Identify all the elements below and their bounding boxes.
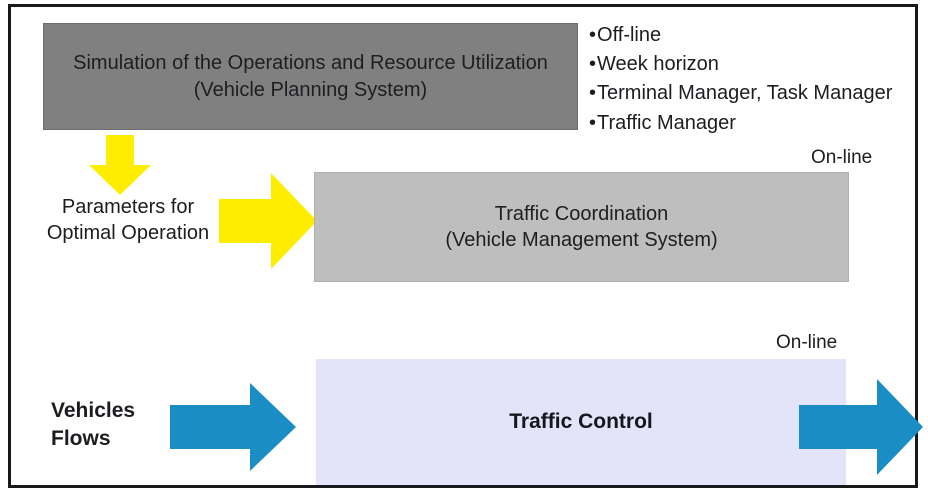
traffic-control-box: Traffic Control	[316, 359, 846, 485]
parameters-label-line1: Parameters for	[62, 196, 194, 218]
online-label-bottom: On-line	[776, 332, 837, 354]
bullet-dot-icon: •	[589, 21, 596, 50]
yellow-right-arrow-icon	[219, 173, 317, 269]
list-item: •Traffic Manager	[589, 109, 927, 138]
list-item: •Terminal Manager, Task Manager	[589, 79, 927, 108]
traffic-control-label: Traffic Control	[509, 408, 653, 436]
bullet-text: Terminal Manager, Task Manager	[597, 82, 892, 104]
online-label-middle: On-line	[811, 147, 872, 169]
blue-right-arrow-in-icon	[170, 383, 296, 471]
bullet-dot-icon: •	[589, 109, 596, 138]
yellow-down-arrow-icon	[89, 135, 151, 195]
simulation-box-line1: Simulation of the Operations and Resourc…	[73, 52, 548, 74]
parameters-label-line2: Optimal Operation	[47, 222, 209, 244]
bullet-text: Off-line	[597, 24, 661, 46]
traffic-coordination-line2: (Vehicle Management System)	[445, 229, 717, 251]
vehicles-flows-line1: Vehicles	[51, 399, 135, 422]
bullet-list: •Off-line •Week horizon •Terminal Manage…	[589, 21, 927, 138]
parameters-label: Parameters for Optimal Operation	[33, 195, 223, 246]
bullet-text: Week horizon	[597, 53, 719, 75]
traffic-coordination-line1: Traffic Coordination	[495, 203, 668, 225]
blue-right-arrow-out-icon	[799, 379, 923, 475]
vehicles-flows-line2: Flows	[51, 427, 111, 450]
traffic-coordination-box: Traffic Coordination (Vehicle Management…	[314, 172, 849, 282]
bullet-dot-icon: •	[589, 79, 596, 108]
simulation-box: Simulation of the Operations and Resourc…	[43, 23, 578, 130]
list-item: •Week horizon	[589, 50, 927, 79]
list-item: •Off-line	[589, 21, 927, 50]
diagram-canvas: Simulation of the Operations and Resourc…	[0, 0, 928, 496]
simulation-box-line2: (Vehicle Planning System)	[73, 77, 548, 103]
bullet-dot-icon: •	[589, 50, 596, 79]
bullet-text: Traffic Manager	[597, 112, 736, 134]
diagram-frame: Simulation of the Operations and Resourc…	[8, 4, 918, 488]
vehicles-flows-label: Vehicles Flows	[51, 397, 181, 454]
